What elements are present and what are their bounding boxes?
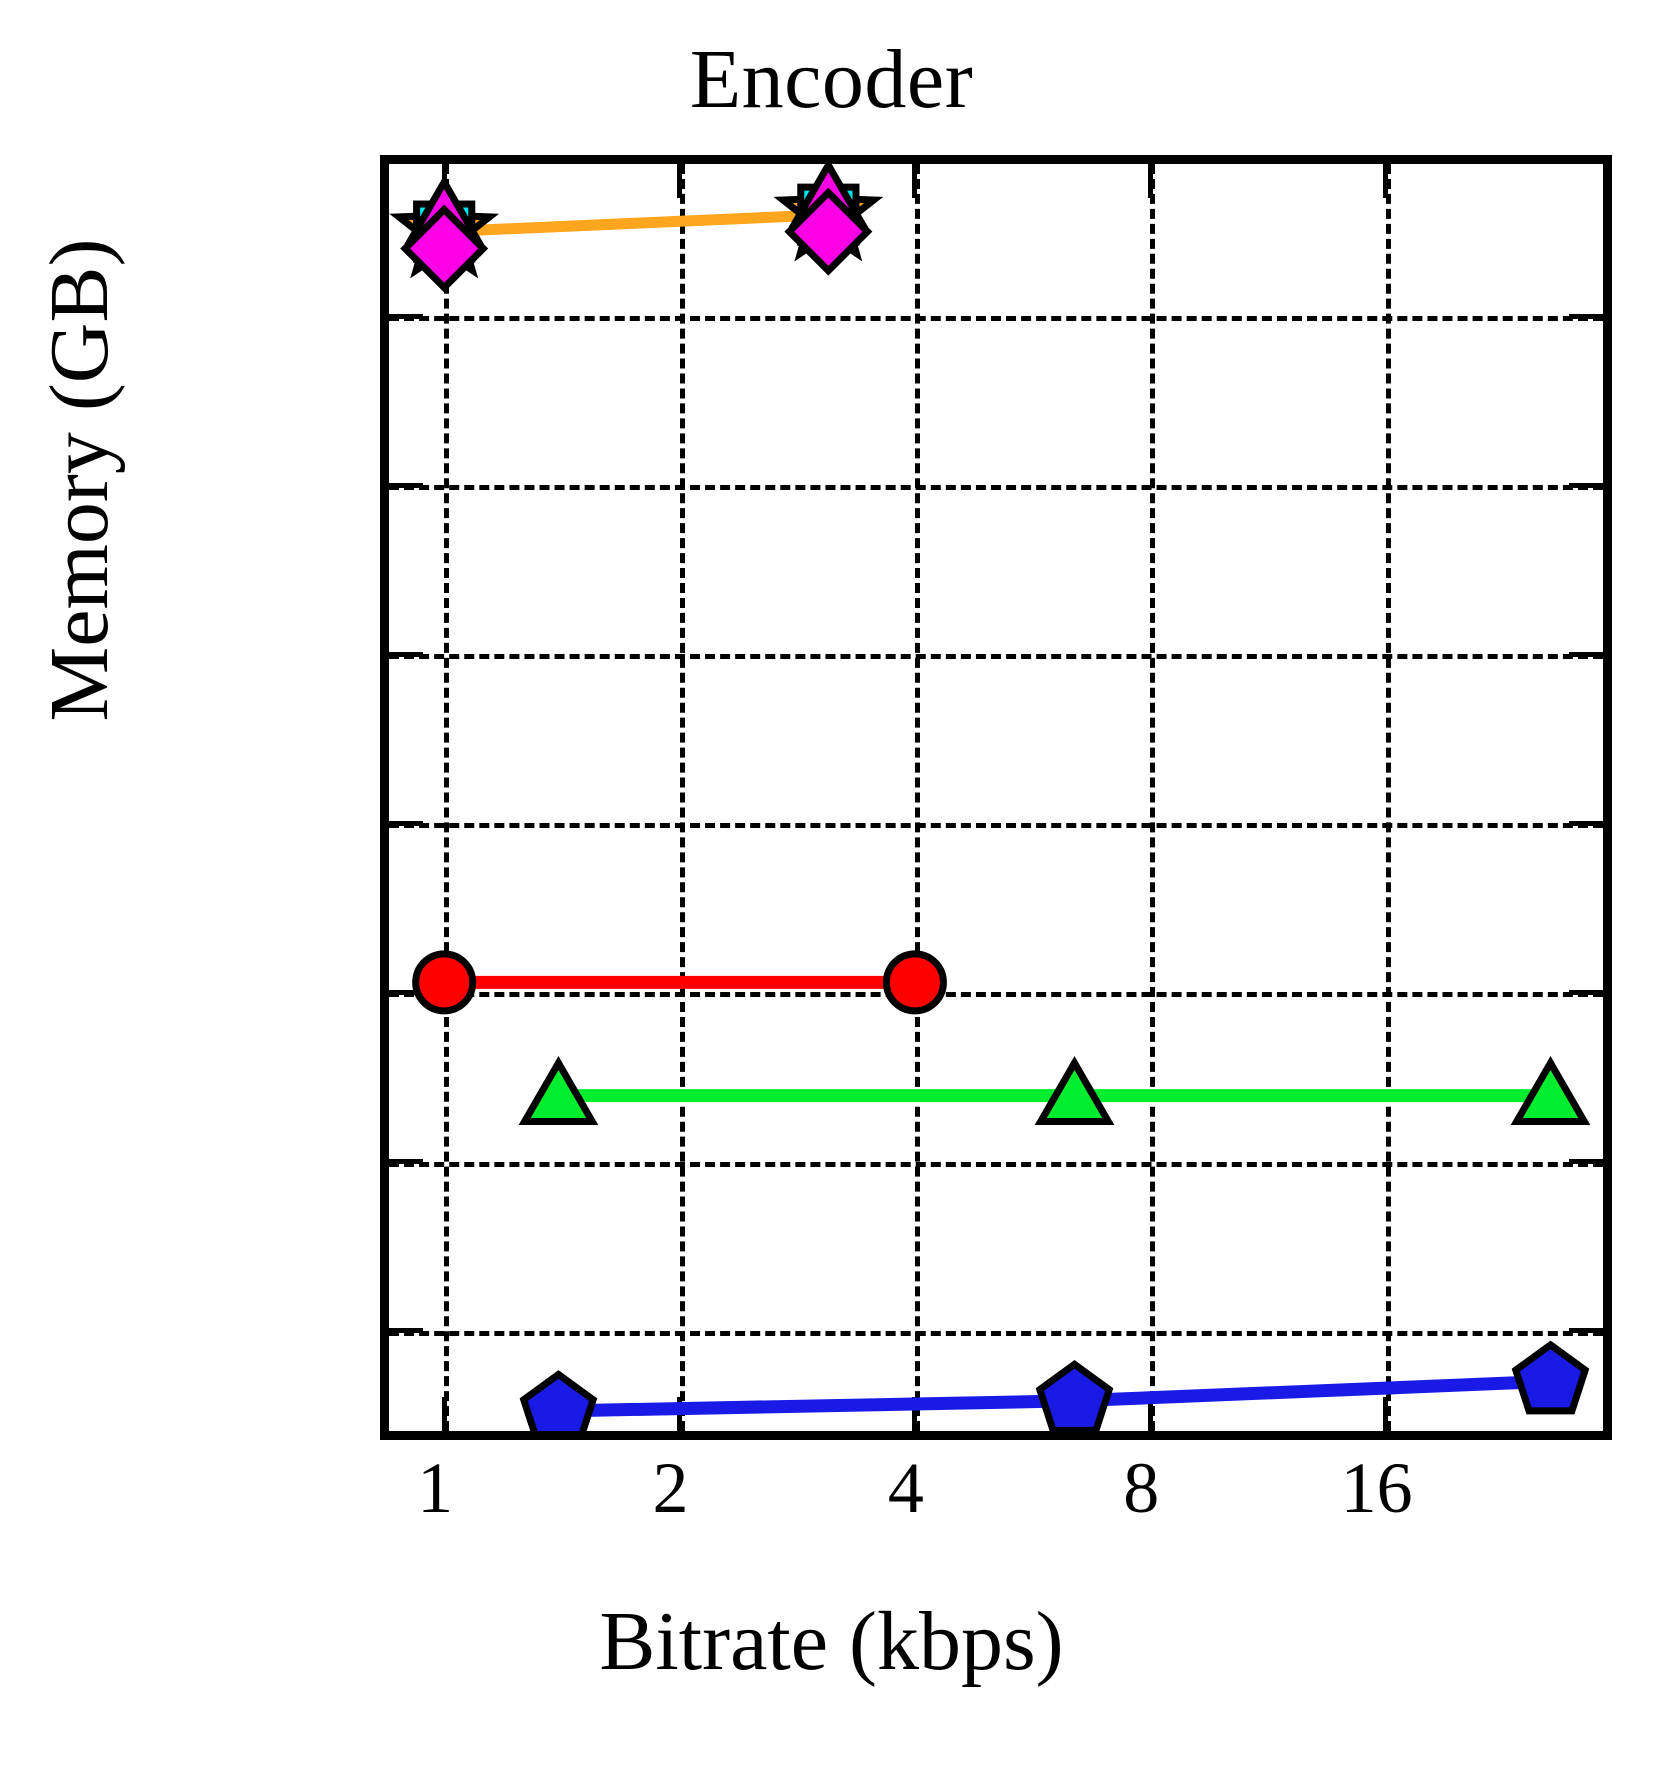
plot-area [380,155,1612,1440]
x-tick-label: 4 [888,1452,924,1524]
x-tick-label: 1 [417,1452,453,1524]
data-point-marker [886,954,943,1011]
x-axis-label: Bitrate (kbps) [0,1600,1663,1684]
y-axis-label: Memory (GB) [38,239,122,722]
plot-inner [389,164,1603,1431]
series-blue-pentagon-series [524,1345,1585,1431]
x-tick-label: 8 [1123,1452,1159,1524]
x-tick-label: 2 [653,1452,689,1524]
y-axis-label-wrapper: Memory (GB) [20,0,140,980]
series-red-circle-series [416,954,944,1011]
data-point-marker [416,954,473,1011]
series-green-triangle-series [525,1063,1585,1122]
data-point-marker [524,1374,593,1431]
series-line [444,215,828,232]
x-tick-label: 16 [1341,1452,1413,1524]
chart-figure: Encoder 124816 1.61.41.21.00.80.60.4 Bit… [0,0,1663,1782]
data-point-marker [1040,1364,1109,1430]
data-series-layer [389,164,1603,1431]
chart-title: Encoder [0,38,1663,122]
data-point-marker [1516,1345,1585,1411]
